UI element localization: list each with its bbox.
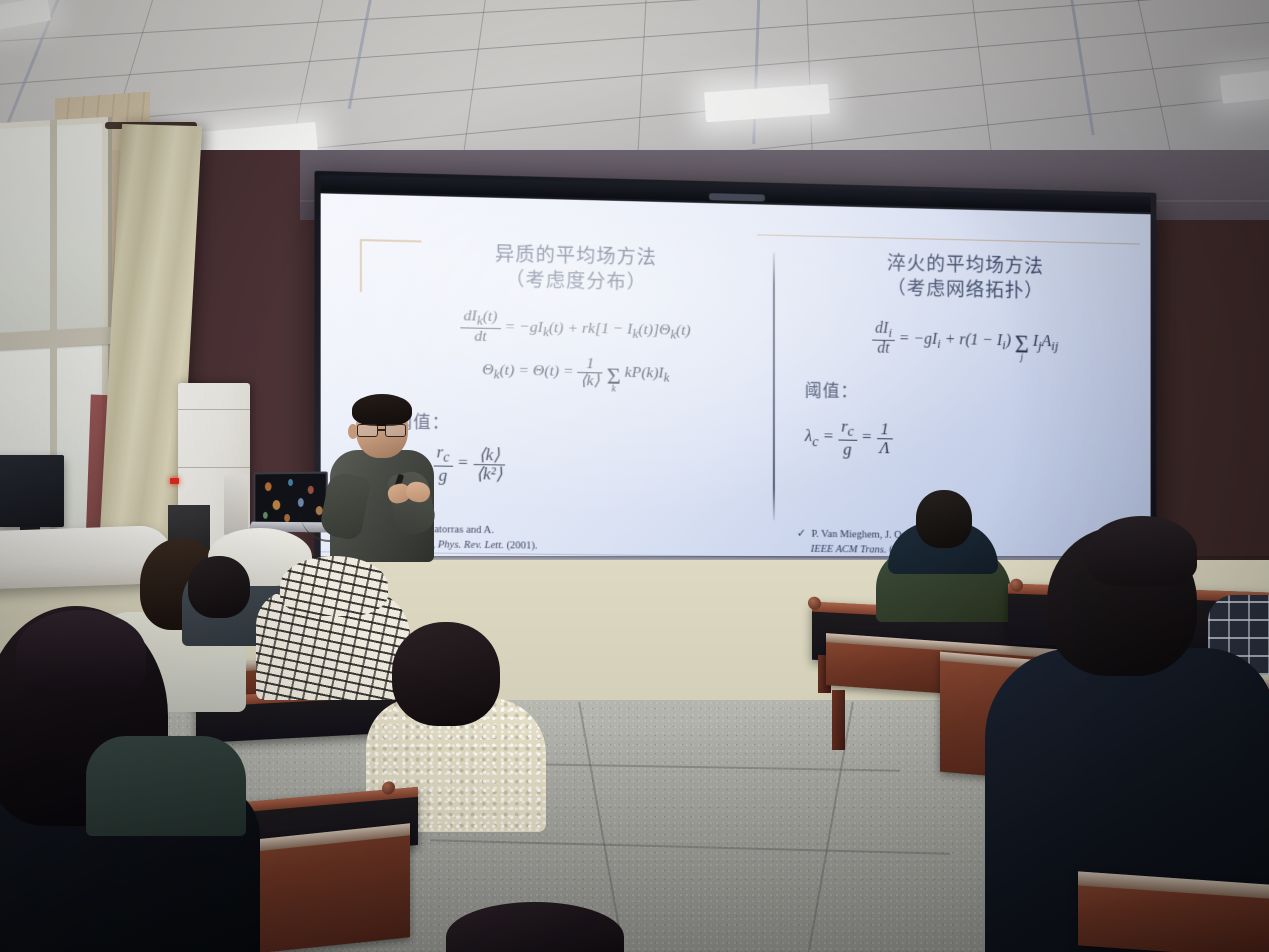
- right-threshold-label: 阈值：: [793, 376, 1136, 407]
- left-column-title: 异质的平均场方法 （考虑度分布）: [382, 240, 766, 299]
- presenter-hair: [352, 394, 412, 426]
- left-equation-2: Θk(t) = Θ(t) = 1 ⟨k⟩ Σk kP(k)Ik: [382, 352, 766, 393]
- power-indicator-icon: [170, 478, 179, 484]
- bench-desk-right-5: [1078, 871, 1269, 952]
- summation-icon: Σj: [1015, 332, 1029, 360]
- eyeglasses-icon: [356, 424, 408, 437]
- right-threshold-equation: λc = rc g = 1 Λ: [793, 417, 1136, 463]
- right-column-title: 淬火的平均场方法 （考虑网络拓扑）: [793, 249, 1136, 306]
- bench-leg: [832, 690, 845, 750]
- slide-right-column: 淬火的平均场方法 （考虑网络拓扑） dIi dt = −gIi + r(1 − …: [793, 249, 1136, 463]
- lecture-hall-photo: 异质的平均场方法 （考虑度分布） dIk(t) dt = −gIk(t) + r…: [0, 0, 1269, 952]
- attendee-left-green-knit: [86, 716, 246, 836]
- slide-content: 异质的平均场方法 （考虑度分布） dIk(t) dt = −gIk(t) + r…: [321, 193, 1151, 570]
- presenter: [318, 398, 442, 558]
- slide-column-divider: [773, 253, 775, 521]
- podium-monitor: [0, 455, 64, 527]
- right-equation-1: dIi dt = −gIi + r(1 − Ii) Σj IjAij: [793, 319, 1136, 362]
- summation-icon: Σk: [607, 364, 621, 391]
- checkmark-icon: ✓: [797, 529, 806, 540]
- screen-surface: 异质的平均场方法 （考虑度分布） dIk(t) dt = −gIk(t) + r…: [321, 193, 1151, 570]
- ac-control-panel[interactable]: [224, 475, 248, 535]
- left-equation-1: dIk(t) dt = −gIk(t) + rk[1 − Ik(t)]Θk(t): [382, 307, 766, 351]
- screen-sensor-strip: [709, 193, 765, 201]
- slide-rule-top: [757, 234, 1140, 244]
- attendee-bottom-center: [446, 902, 624, 952]
